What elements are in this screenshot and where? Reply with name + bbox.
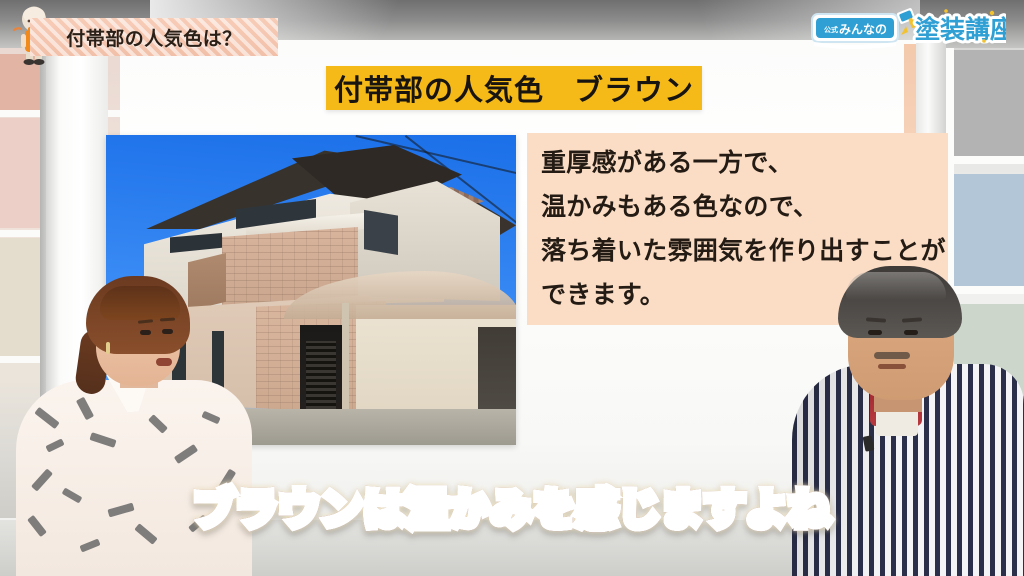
female-presenter (16, 276, 252, 576)
hair-fringe (100, 286, 180, 320)
header-banner-label: 付帯部の人気色は？ (66, 24, 242, 51)
hair-highlight (846, 272, 946, 300)
svg-text:公式: 公式 (824, 25, 838, 34)
main-title-text: 付帯部の人気色 ブラウン (334, 67, 694, 109)
male-presenter (792, 260, 1024, 576)
right-swatch-1 (954, 50, 1024, 156)
program-logo: 公式 みんなの 塗装講座 塗装講座 (806, 4, 1006, 52)
svg-text:みんなの: みんなの (839, 23, 887, 37)
eye (904, 330, 918, 335)
mouth (156, 358, 172, 366)
eye (140, 330, 151, 335)
description-line: 重厚感がある一方で、 (541, 141, 948, 185)
mouth (878, 364, 906, 369)
left-swatch-2 (0, 118, 44, 228)
main-title-banner: 付帯部の人気色 ブラウン (326, 66, 702, 110)
header-banner: 付帯部の人気色は？ (30, 18, 278, 56)
moustache (874, 352, 910, 359)
eye (868, 330, 882, 335)
eye (162, 329, 173, 334)
earring (106, 342, 110, 354)
description-line: 温かみもある色なので、 (541, 185, 948, 229)
svg-text:塗装講座: 塗装講座 (915, 15, 1006, 44)
video-frame: 付帯部の人気色は？ 公式 みんなの 塗装講座 塗装講座 (0, 0, 1024, 576)
